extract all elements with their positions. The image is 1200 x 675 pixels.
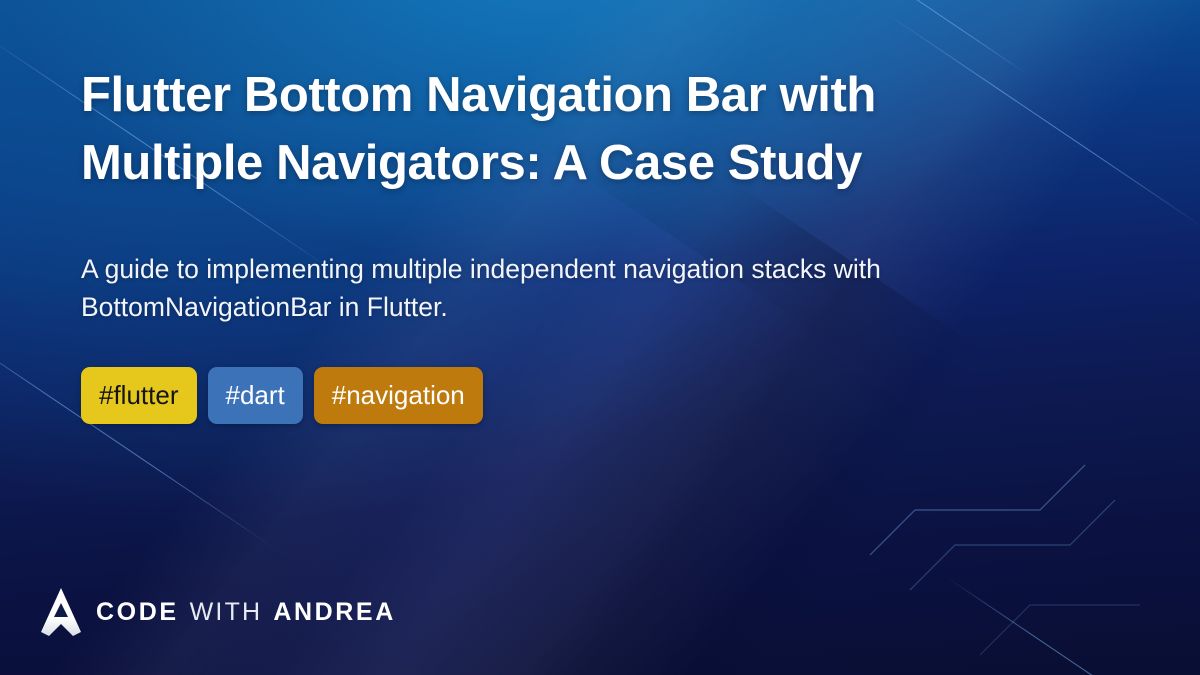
tag-navigation[interactable]: #navigation	[314, 367, 483, 424]
card-content: Flutter Bottom Navigation Bar with Multi…	[81, 62, 1111, 424]
code-with-andrea-logo-icon	[40, 587, 82, 637]
tag-list: #flutter #dart #navigation	[81, 367, 1111, 424]
brand-wordmark: CODE WITH ANDREA	[96, 598, 396, 627]
page-subtitle: A guide to implementing multiple indepen…	[81, 250, 1091, 326]
page-title: Flutter Bottom Navigation Bar with Multi…	[81, 62, 1051, 197]
brand-word-with: WITH	[190, 598, 263, 627]
brand-word-andrea: ANDREA	[273, 598, 396, 627]
tag-dart[interactable]: #dart	[208, 367, 303, 424]
brand-word-code: CODE	[96, 598, 179, 627]
social-share-card: Flutter Bottom Navigation Bar with Multi…	[0, 0, 1200, 675]
decorative-streak-line	[945, 576, 1194, 675]
brand-logo[interactable]: CODE WITH ANDREA	[40, 587, 396, 637]
tag-flutter[interactable]: #flutter	[81, 367, 197, 424]
